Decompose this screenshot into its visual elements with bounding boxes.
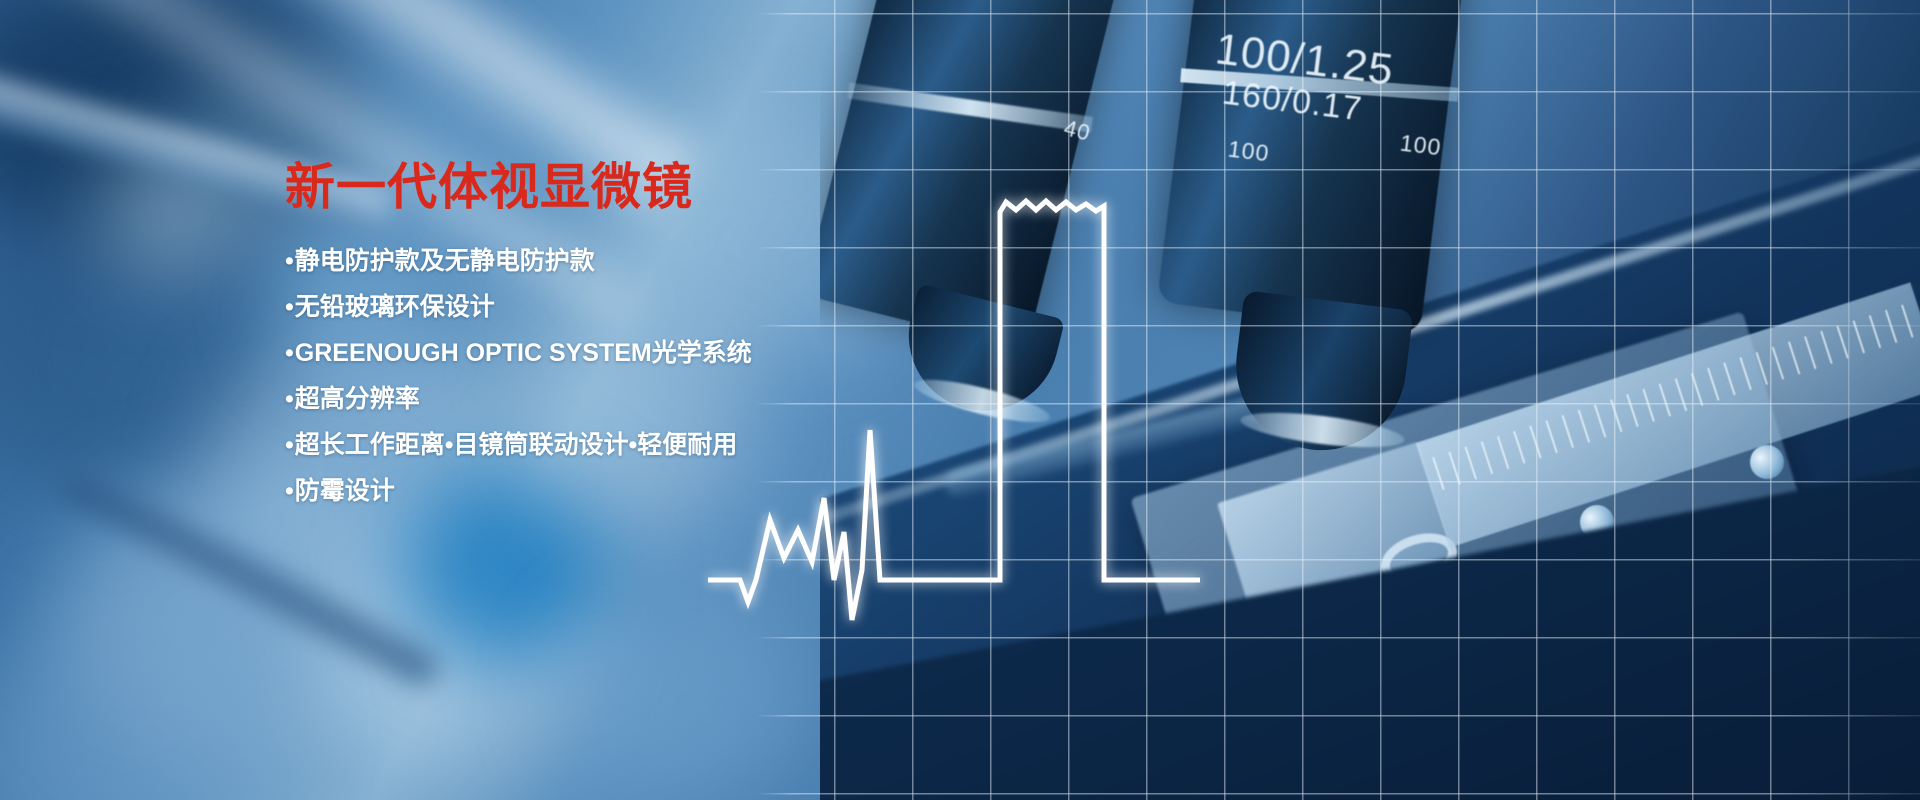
bullet-marker-icon: • [285,433,294,458]
list-item-label: GREENOUGH OPTIC SYSTEM光学系统 [295,339,752,367]
page-title: 新一代体视显微镜 [285,160,845,215]
feature-list: •静电防护款及无静电防护款 •无铅玻璃环保设计 •GREENOUGH OPTIC… [285,249,845,504]
list-item: •静电防护款及无静电防护款 [285,249,845,274]
list-item: •防霉设计 [285,479,845,504]
banner-copy: 新一代体视显微镜 •静电防护款及无静电防护款 •无铅玻璃环保设计 •GREENO… [285,160,845,525]
bullet-marker-icon: • [285,249,294,274]
list-item: •无铅玻璃环保设计 [285,295,845,320]
list-item-label: 超长工作距离•目镜筒联动设计•轻便耐用 [295,431,738,459]
list-item-label: 超高分辨率 [295,385,420,413]
bullet-marker-icon: • [285,479,294,504]
list-item-label: 无铅玻璃环保设计 [295,293,495,321]
bullet-marker-icon: • [285,387,294,412]
bullet-marker-icon: • [285,295,294,320]
list-item: •超高分辨率 [285,387,845,412]
bullet-marker-icon: • [285,341,294,366]
list-item-label: 防霉设计 [295,477,395,505]
list-item: •超长工作距离•目镜筒联动设计•轻便耐用 [285,433,845,458]
product-banner: 100/1.25 160/0.17 100 100 40 新一代体视显微镜 •静… [0,0,1920,800]
list-item: •GREENOUGH OPTIC SYSTEM光学系统 [285,341,845,366]
list-item-label: 静电防护款及无静电防护款 [295,247,595,275]
